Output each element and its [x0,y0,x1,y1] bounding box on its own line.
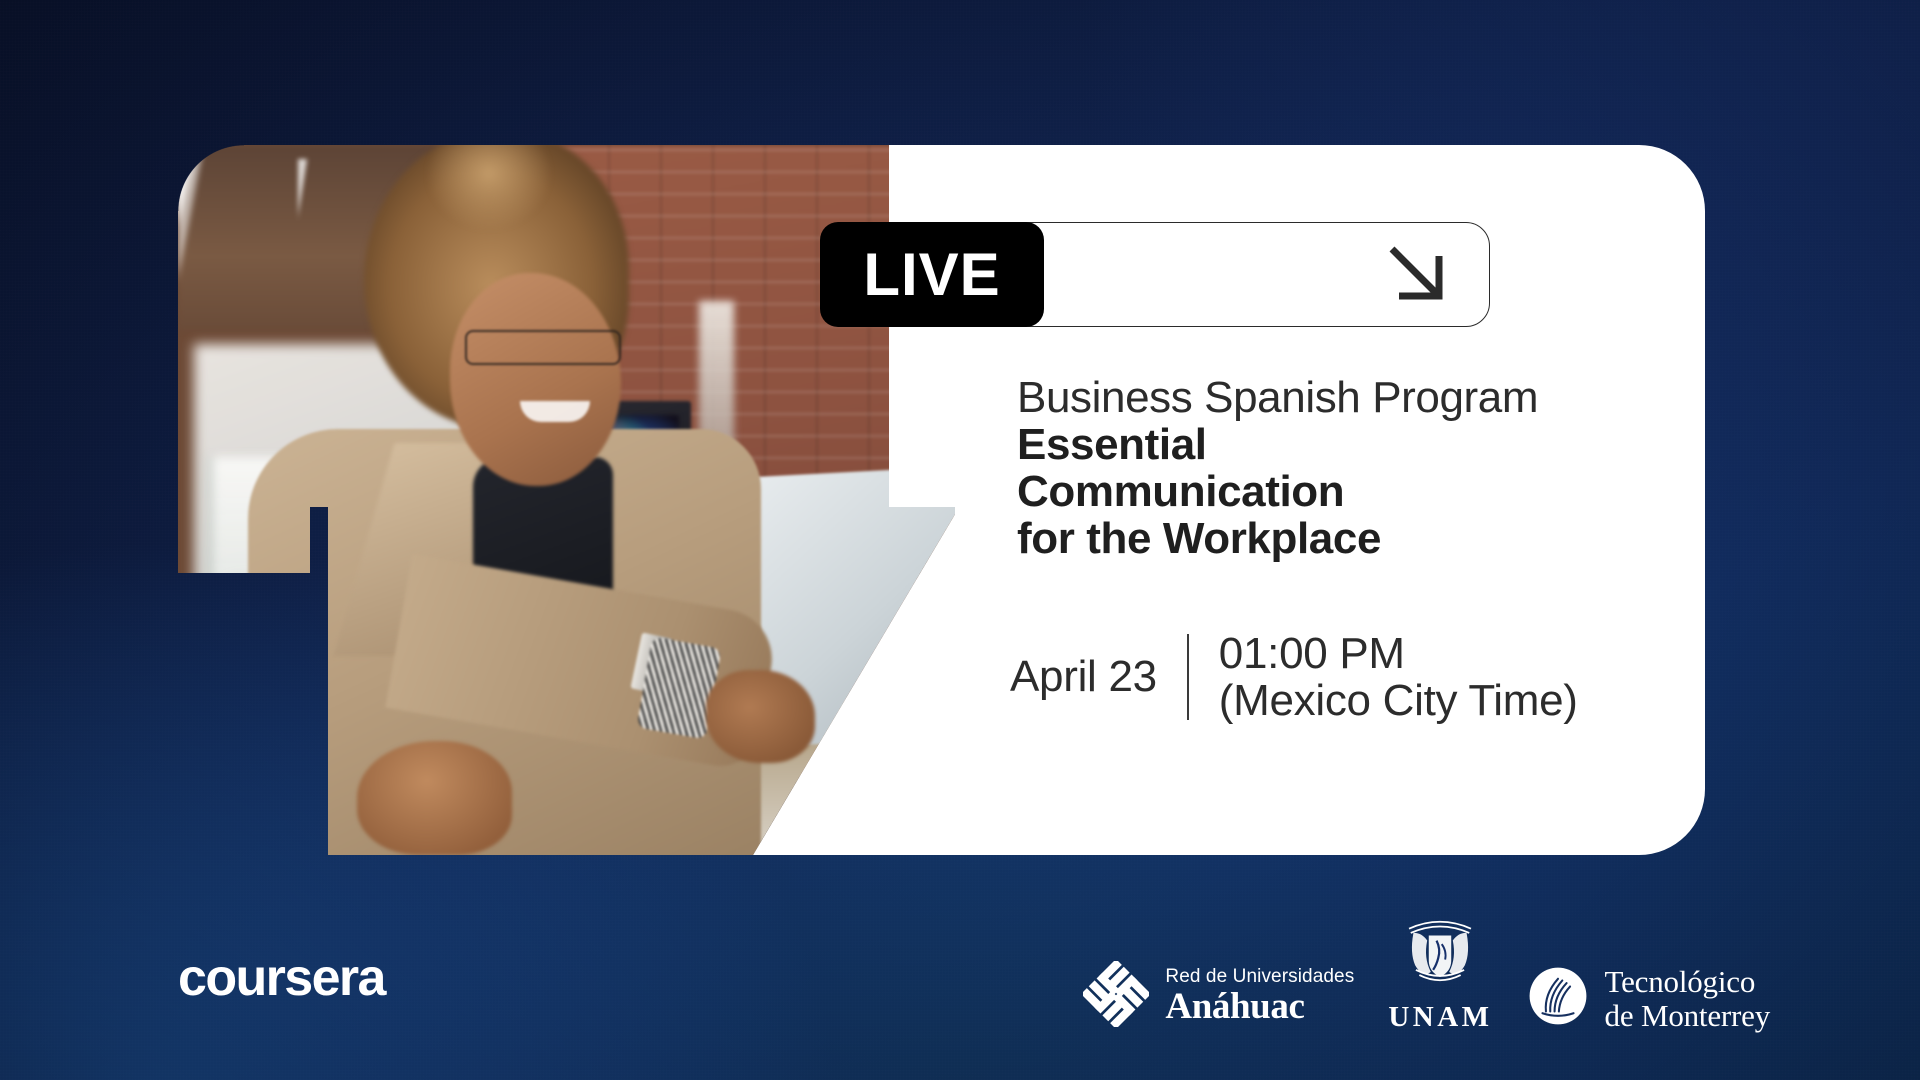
anahuac-woven-diamond-icon [1083,961,1149,1032]
unam-logo-text: UNAM [1388,1003,1492,1032]
schedule-divider [1187,634,1189,720]
event-time: 01:00 PM (Mexico City Time) [1219,630,1578,724]
arrow-down-right-icon [1387,244,1449,306]
event-time-zone: (Mexico City Time) [1219,677,1578,724]
promo-canvas: LIVE Business Spanish Program Essential … [0,0,1920,1080]
partner-logos: Red de Universidades Anáhuac [1083,908,1770,1032]
coursera-wordmark: coursera [178,952,385,1004]
partner-logo-unam: UNAM [1388,908,1492,1032]
partner-logo-anahuac: Red de Universidades Anáhuac [1083,961,1354,1032]
event-schedule: April 23 01:00 PM (Mexico City Time) [1010,630,1578,724]
tec-flame-circle-icon [1527,965,1589,1032]
unam-crest-icon [1397,908,1483,999]
headline-line-2: Communication [1017,469,1657,516]
anahuac-logo-line-2: Anáhuac [1165,988,1354,1026]
live-badge[interactable]: LIVE [820,222,1044,327]
live-cta-row[interactable]: LIVE [820,222,1490,327]
event-headline: Essential Communication for the Workplac… [1017,422,1657,562]
anahuac-logo-text: Red de Universidades Anáhuac [1165,967,1354,1026]
headline-line-3: for the Workplace [1017,516,1657,563]
tec-logo-text: Tecnológico de Monterrey [1605,965,1770,1032]
live-badge-label: LIVE [863,245,1000,305]
event-title-block: Business Spanish Program Essential Commu… [1017,375,1657,562]
partner-logo-tec-de-monterrey: Tecnológico de Monterrey [1527,965,1770,1032]
tec-logo-line-2: de Monterrey [1605,999,1770,1032]
event-time-clock: 01:00 PM [1219,630,1578,677]
anahuac-logo-line-1: Red de Universidades [1165,967,1354,988]
headline-line-1: Essential [1017,422,1657,469]
event-date: April 23 [1010,652,1157,702]
program-eyebrow: Business Spanish Program [1017,375,1657,420]
tec-logo-line-1: Tecnológico [1605,965,1770,998]
